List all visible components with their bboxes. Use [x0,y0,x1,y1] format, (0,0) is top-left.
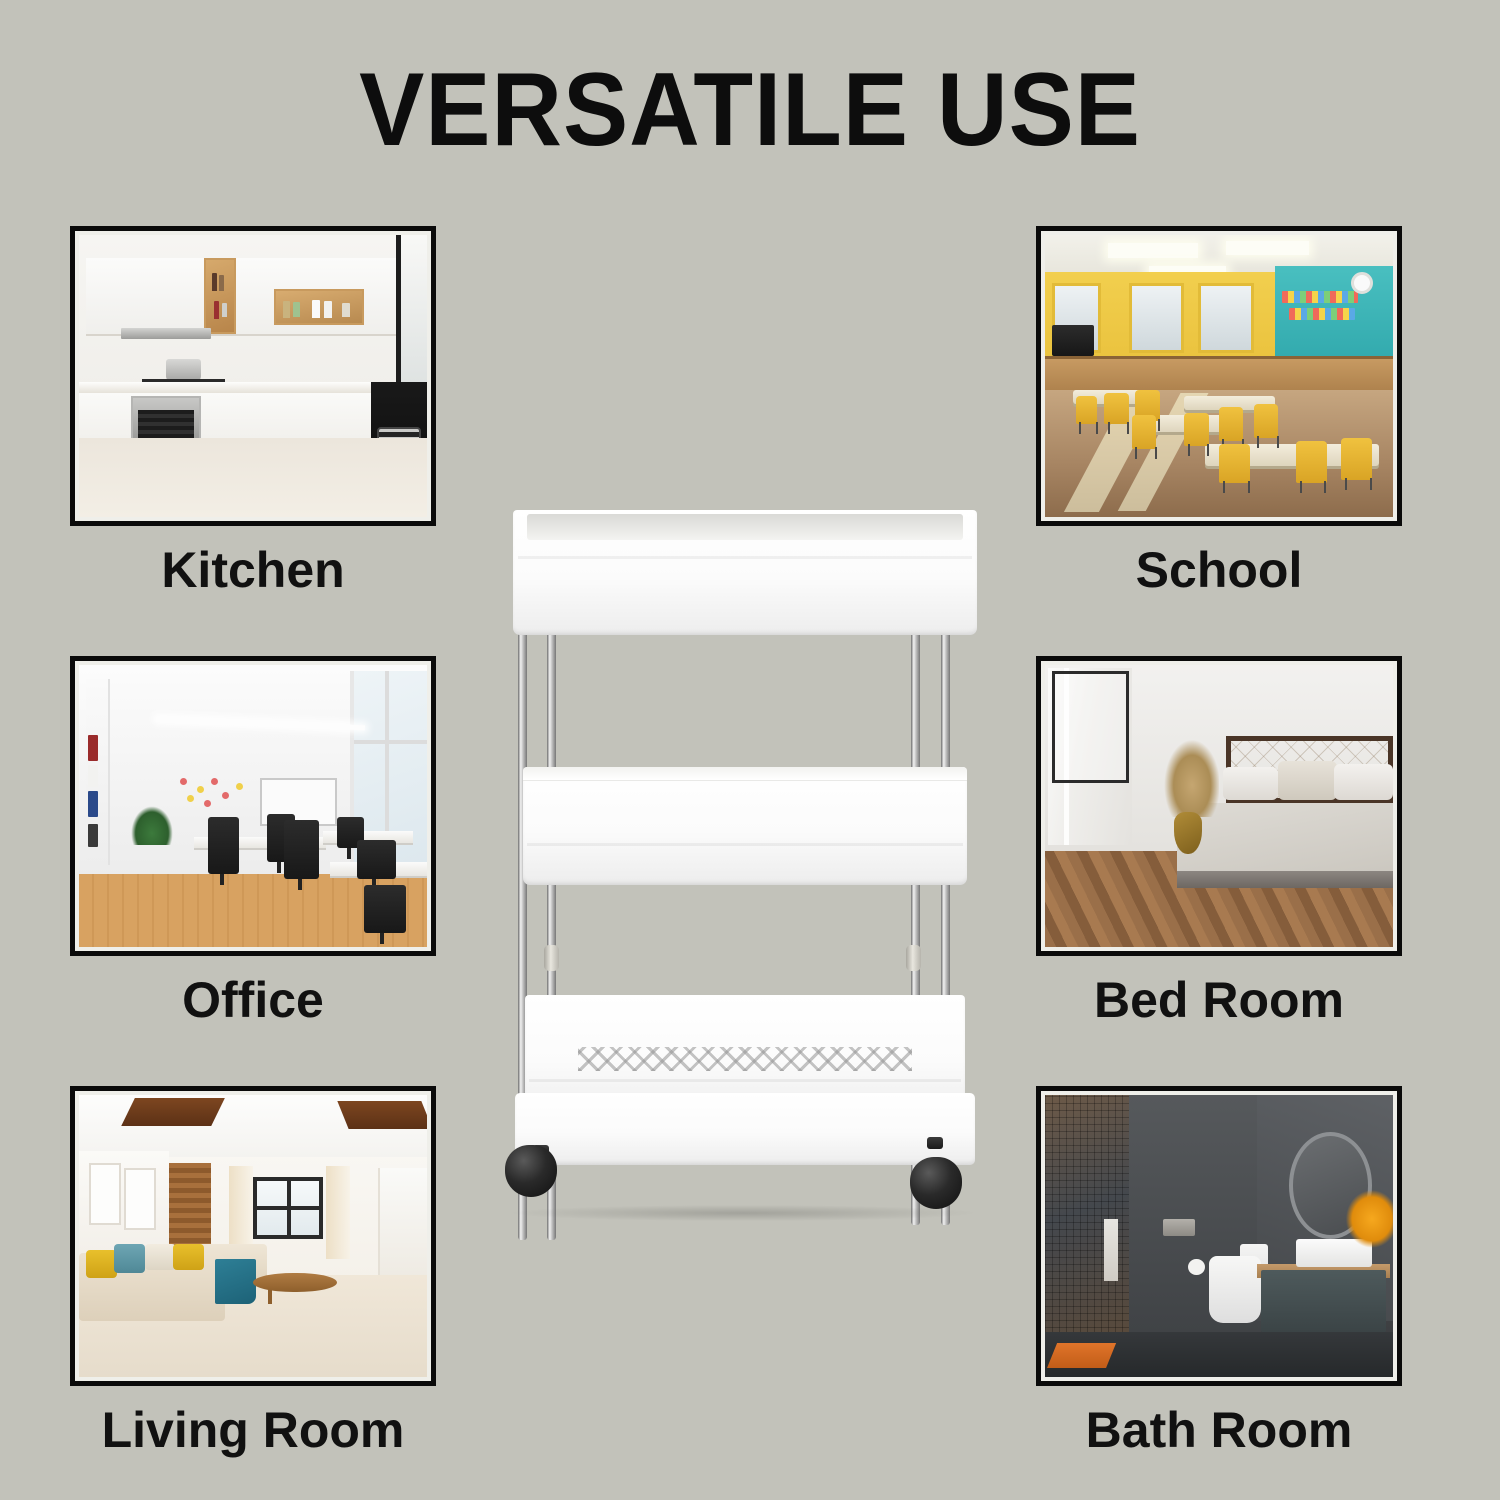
school-ceiling-light [1108,243,1198,257]
pole-cap [906,945,921,971]
school-chair [1296,441,1327,483]
cart-tray-groove [529,1079,960,1082]
cart-tray-groove [527,843,962,846]
school-chair [1219,407,1243,441]
cart-tray-middle [523,767,967,885]
school-chair [1341,438,1372,480]
caster-stem [927,1137,943,1149]
office-chair [364,885,406,933]
cart-tray-top [513,510,977,635]
livingroom-sheer-curtain [326,1166,350,1259]
school-chair [1184,413,1208,447]
livingroom-window [253,1177,323,1239]
livingroom-wood-feature-wall [169,1163,211,1248]
bathroom-shower-mat [1047,1343,1116,1368]
office-chair [208,817,239,873]
tile-label-bedroom: Bed Room [1036,975,1402,1025]
office-sticky-note [211,778,218,785]
tile-office [70,656,436,956]
kitchen-bottle [212,273,217,292]
cart-bottom-perforations [578,1047,912,1071]
kitchen-floor [79,438,427,517]
school-wall-clock [1351,272,1373,294]
school-chair [1104,393,1128,424]
bathroom-toilet [1209,1256,1261,1324]
kitchen-bottle [214,301,219,318]
tile-label-office: Office [70,975,436,1025]
cart-tray-middle-lip [523,767,967,781]
livingroom-wood-beam [338,1101,427,1129]
bedroom-photo [1045,665,1393,947]
livingroom-shelving [378,1168,427,1281]
product-rolling-cart [495,505,995,1215]
bedroom-window-frame [1052,671,1129,784]
kitchen-window [396,235,427,382]
kitchen-wood-shelf-wide [274,289,364,326]
school-window [1129,283,1185,354]
office-sticky-note [180,778,187,785]
office-book [88,735,97,761]
tile-label-kitchen: Kitchen [70,545,436,595]
kitchen-bottle [219,275,224,291]
office-plant [131,806,173,845]
livingroom-cushion-cream [145,1244,176,1269]
bathroom-mosaic-shower-wall [1045,1095,1132,1349]
kitchen-jar [283,301,290,318]
bathroom-tulips [1344,1188,1393,1250]
livingroom-wall-art [89,1163,120,1225]
livingroom-photo [79,1095,427,1377]
office-bookshelf [86,679,110,865]
office-photo [79,665,427,947]
kitchen-wood-shelf-tall [204,258,235,334]
tile-label-livingroom: Living Room [70,1405,436,1455]
kitchen-jar [293,302,300,317]
office-sticky-note [222,792,229,799]
kitchen-range-hood [121,328,211,339]
office-sticky-note [187,795,194,802]
office-book [88,791,97,817]
cart-tray-top-cavity [527,514,963,540]
kitchen-bottle [222,303,227,317]
cart-shadow [513,1205,973,1221]
tile-bedroom [1036,656,1402,956]
kitchen-photo [79,235,427,517]
bathroom-vanity-cabinet [1261,1270,1386,1332]
bedroom-pampas-grass [1163,738,1219,817]
pole-cap [544,945,559,971]
office-book [88,824,97,846]
livingroom-cushion-yellow [86,1250,117,1278]
bathroom-flush-plate [1163,1219,1194,1236]
office-chair [357,840,395,879]
bathroom-towel [1104,1219,1118,1281]
tile-kitchen [70,226,436,526]
school-photo [1045,235,1393,517]
school-alphabet-banner [1289,308,1355,319]
page-title: VERSATILE USE [45,58,1455,162]
kitchen-jar [312,300,320,318]
bedroom-bed-skirt [1177,871,1393,888]
livingroom-cushion-teal [114,1244,145,1272]
bathroom-photo [1045,1095,1393,1377]
caster-wheel-right [910,1157,962,1209]
bedroom-pillow [1278,761,1337,800]
tile-school [1036,226,1402,526]
office-book [88,765,97,787]
school-chair [1076,396,1097,424]
school-chair [1219,444,1250,483]
kitchen-jar [342,303,350,317]
livingroom-wall-art [124,1168,155,1230]
school-alphabet-banner [1282,291,1359,302]
livingroom-coffee-table [253,1273,337,1293]
cart-tray-groove [518,556,973,559]
school-window [1198,283,1254,354]
livingroom-wood-beam [121,1098,225,1126]
bedroom-pillow [1334,764,1393,801]
tile-bathroom [1036,1086,1402,1386]
tile-label-school: School [1036,545,1402,595]
office-chair [284,820,319,879]
school-chair [1132,415,1156,449]
livingroom-cushion-yellow [173,1244,204,1269]
tile-label-bathroom: Bath Room [1036,1405,1402,1455]
school-tv-monitor [1052,325,1094,356]
livingroom-throw-blanket [215,1259,257,1304]
school-chair [1254,404,1278,438]
cart-base-rail [515,1093,975,1165]
caster-wheel-left [505,1145,557,1197]
tile-livingroom [70,1086,436,1386]
bedroom-vase [1174,812,1202,854]
kitchen-jar [324,301,332,318]
bedroom-pillow [1223,767,1279,801]
school-ceiling-light [1226,241,1310,255]
